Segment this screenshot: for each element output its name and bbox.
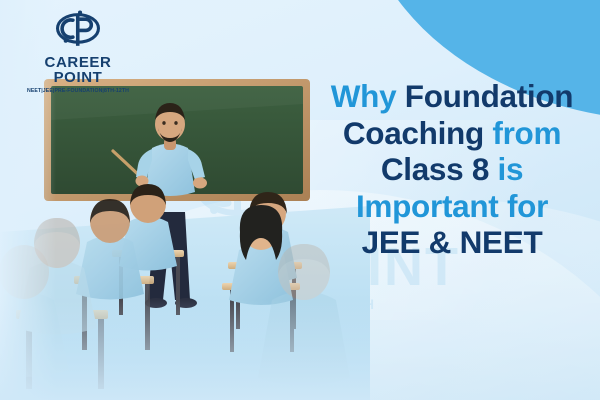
headline-segment-5-1: JEE & NEET (362, 224, 543, 260)
headline-line-5: JEE & NEET (318, 224, 586, 261)
headline: Why FoundationCoaching fromClass 8 isImp… (318, 78, 586, 261)
headline-line-1: Why Foundation (318, 78, 586, 115)
scene-bottom-fade (0, 300, 370, 400)
headline-segment-1-1: Why (331, 78, 405, 114)
headline-segment-3-2: is (498, 151, 524, 187)
headline-segment-4-1: Important for (356, 188, 548, 224)
logo-subtitle: NEET|JEE|PRE-FOUNDATION|8TH-12TH (18, 88, 138, 94)
headline-segment-1-2: Foundation (405, 78, 573, 114)
headline-line-4: Important for (318, 188, 586, 225)
brand-logo[interactable]: CAREER POINT NEET|JEE|PRE-FOUNDATION|8TH… (18, 10, 138, 94)
promo-banner: CAREER POINT NEET|JEE|PRE-FOUNDATION|8TH… (0, 0, 600, 400)
headline-line-3: Class 8 is (318, 151, 586, 188)
logo-title: CAREER POINT (18, 55, 138, 85)
headline-segment-2-1: Coaching (343, 115, 493, 151)
career-point-cp-monogram-icon (50, 10, 106, 54)
headline-segment-2-2: from (492, 115, 561, 151)
headline-line-2: Coaching from (318, 115, 586, 152)
headline-segment-3-1: Class 8 (381, 151, 498, 187)
